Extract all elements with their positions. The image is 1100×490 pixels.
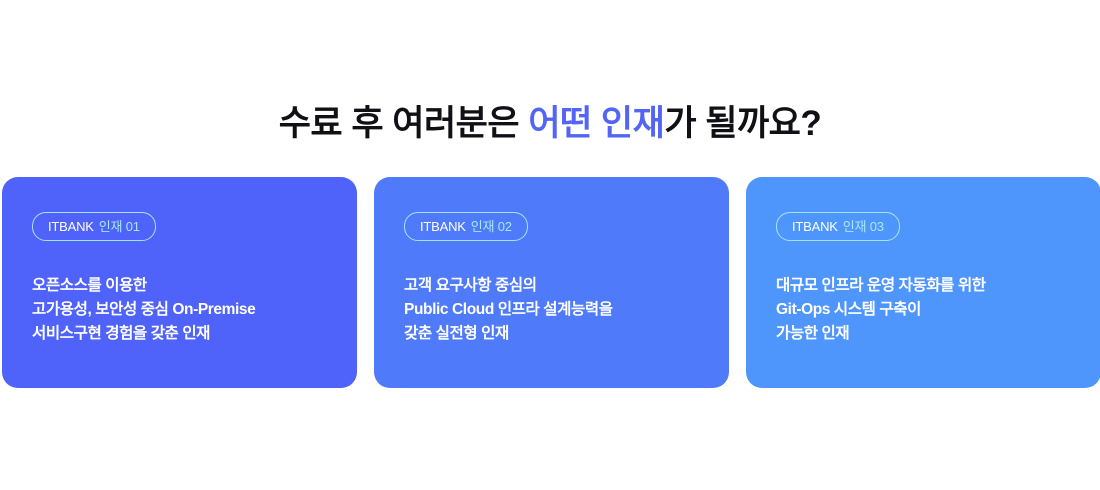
badge-brand-label: ITBANK — [792, 220, 838, 233]
talent-badge-01: ITBANK 인재 01 — [32, 212, 156, 241]
talent-card-01[interactable]: ITBANK 인재 01 오픈소스를 이용한 고가용성, 보안성 중심 On-P… — [2, 177, 357, 388]
card-body-line: 고객 요구사항 중심의 — [404, 274, 709, 298]
card-body-line: 대규모 인프라 운영 자동화를 위한 — [776, 274, 1081, 298]
page-container: 수료 후 여러분은 어떤 인재가 될까요? ITBANK 인재 01 오픈소스를… — [0, 0, 1100, 490]
page-title-part-1: 수료 후 여러분은 — [279, 104, 529, 143]
badge-number-label: 인재 03 — [843, 220, 884, 233]
card-body-line: 고가용성, 보안성 중심 On-Premise — [32, 298, 337, 322]
card-body-line: 가능한 인재 — [776, 322, 1081, 346]
page-title: 수료 후 여러분은 어떤 인재가 될까요? — [0, 103, 1100, 145]
badge-number-label: 인재 02 — [471, 220, 512, 233]
talent-card-body-02: 고객 요구사항 중심의 Public Cloud 인프라 설계능력을 갖춘 실전… — [404, 274, 709, 346]
talent-badge-03: ITBANK 인재 03 — [776, 212, 900, 241]
card-body-line: 오픈소스를 이용한 — [32, 274, 337, 298]
page-title-part-2: 가 될까요? — [664, 104, 821, 143]
card-body-line: Git-Ops 시스템 구축이 — [776, 298, 1081, 322]
talent-card-row: ITBANK 인재 01 오픈소스를 이용한 고가용성, 보안성 중심 On-P… — [2, 177, 1098, 388]
talent-card-03[interactable]: ITBANK 인재 03 대규모 인프라 운영 자동화를 위한 Git-Ops … — [746, 177, 1100, 388]
card-body-line: 갖춘 실전형 인재 — [404, 322, 709, 346]
talent-card-body-01: 오픈소스를 이용한 고가용성, 보안성 중심 On-Premise 서비스구현 … — [32, 274, 337, 346]
page-title-accent: 어떤 인재 — [528, 104, 664, 143]
talent-card-02[interactable]: ITBANK 인재 02 고객 요구사항 중심의 Public Cloud 인프… — [374, 177, 729, 388]
talent-badge-02: ITBANK 인재 02 — [404, 212, 528, 241]
badge-number-label: 인재 01 — [99, 220, 140, 233]
badge-brand-label: ITBANK — [420, 220, 466, 233]
card-body-line: Public Cloud 인프라 설계능력을 — [404, 298, 709, 322]
badge-brand-label: ITBANK — [48, 220, 94, 233]
card-body-line: 서비스구현 경험을 갖춘 인재 — [32, 322, 337, 346]
talent-card-body-03: 대규모 인프라 운영 자동화를 위한 Git-Ops 시스템 구축이 가능한 인… — [776, 274, 1081, 346]
